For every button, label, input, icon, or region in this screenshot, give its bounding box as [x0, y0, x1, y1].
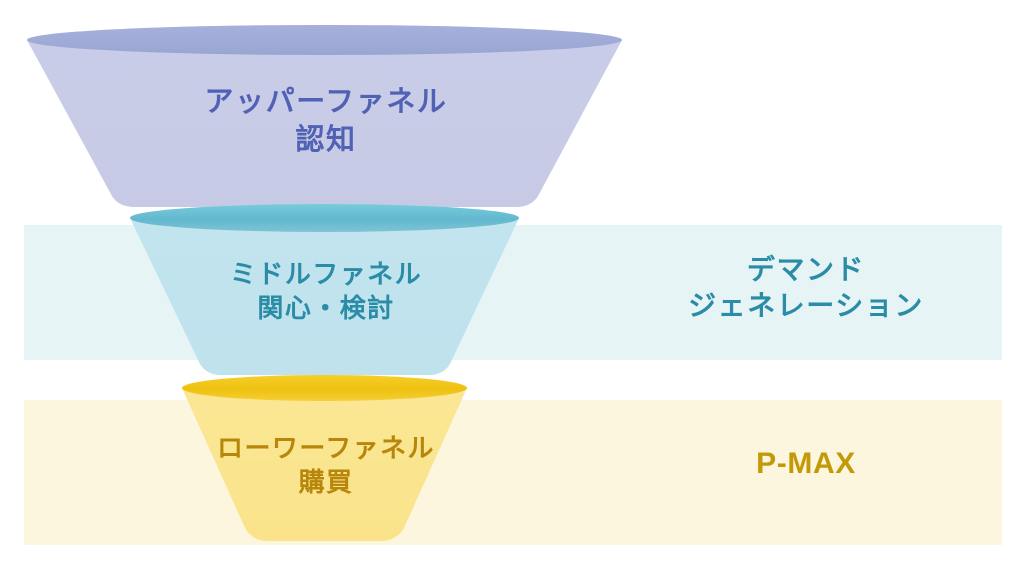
band-label-pmax: P-MAX — [640, 444, 972, 483]
funnel-diagram: アッパーファネル 認知 ミドルファネル 関心・検討 ローワーファネル 購買 デマ… — [0, 0, 1024, 576]
funnel-label-middle: ミドルファネル 関心・検討 — [150, 258, 502, 326]
band-label-demand-generation: デマンド ジェネレーション — [610, 252, 1002, 325]
funnel-label-lower: ローワーファネル 購買 — [160, 432, 492, 500]
funnel-label-upper: アッパーファネル 認知 — [100, 84, 552, 159]
